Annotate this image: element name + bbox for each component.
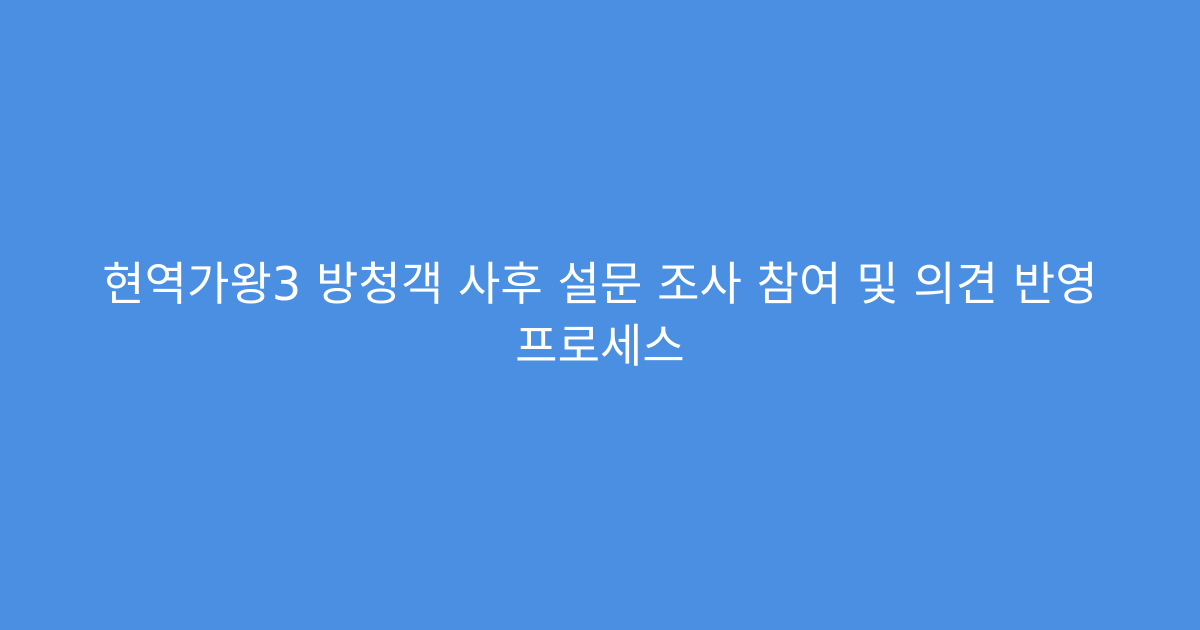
page-title: 현역가왕3 방청객 사후 설문 조사 참여 및 의견 반영 프로세스 xyxy=(100,253,1100,377)
title-block: 현역가왕3 방청객 사후 설문 조사 참여 및 의견 반영 프로세스 xyxy=(0,253,1200,377)
og-card-canvas: 현역가왕3 방청객 사후 설문 조사 참여 및 의견 반영 프로세스 xyxy=(0,0,1200,630)
